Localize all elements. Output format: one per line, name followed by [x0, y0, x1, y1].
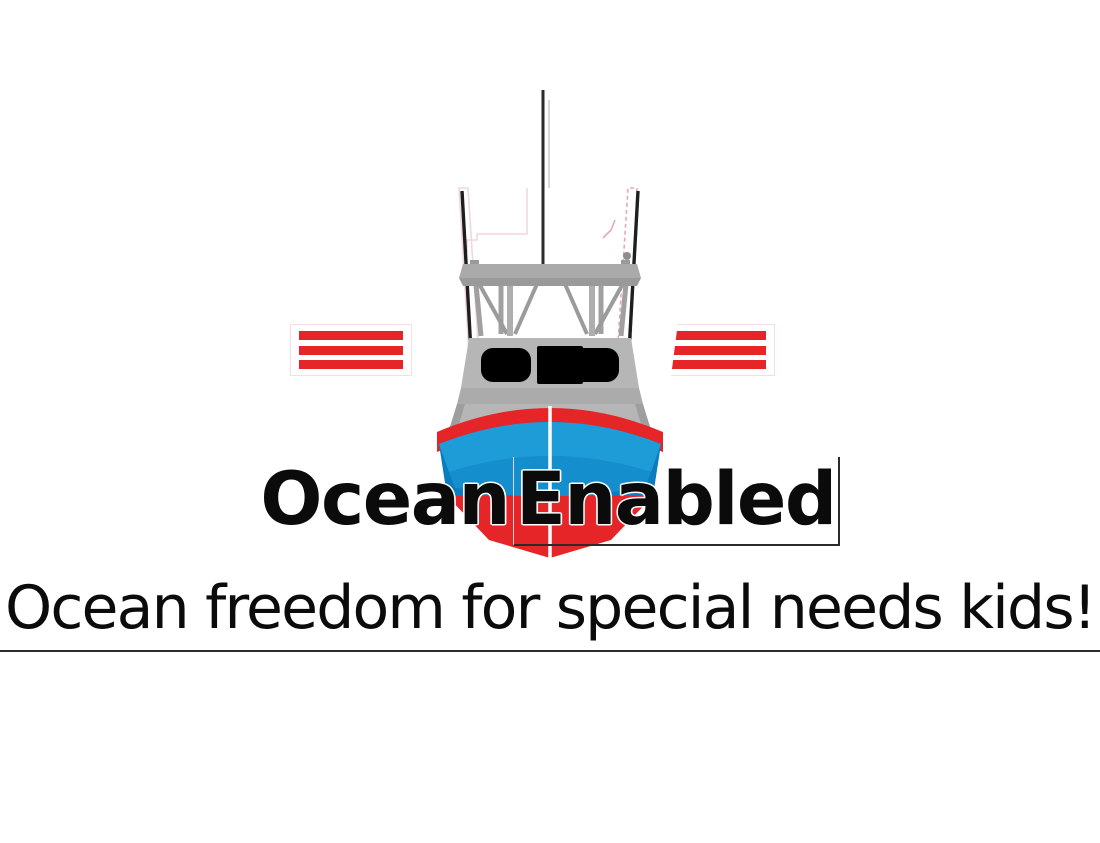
port-window — [481, 348, 531, 382]
stripe-bar — [299, 360, 403, 369]
starboard-antenna-base — [623, 252, 631, 260]
logo-canvas: OceanEnabled Ocean freedom for special n… — [0, 0, 1100, 843]
left-stripe-group — [290, 324, 412, 376]
fishing-boat-bow-view-icon — [415, 88, 685, 408]
stripe-bar — [299, 346, 403, 355]
tagline: Ocean freedom for special needs kids! — [0, 566, 1100, 652]
wordmark-word-one: Ocean — [260, 457, 509, 542]
stripe-bar — [299, 331, 403, 340]
tower-rail-left — [507, 280, 513, 336]
tower-rail-right — [589, 280, 595, 336]
logo-emblem — [0, 0, 1100, 420]
starboard-window — [569, 348, 619, 382]
cabin-lower — [457, 388, 643, 404]
tagline-text: Ocean freedom for special needs kids! — [5, 578, 1095, 638]
wordmark-text: OceanEnabled — [260, 463, 839, 536]
wordmark-word-two: Enabled — [513, 457, 840, 546]
hardtop-roof-edge — [459, 278, 641, 286]
wordmark: OceanEnabled — [0, 452, 1100, 546]
hardtop-roof — [459, 264, 641, 278]
